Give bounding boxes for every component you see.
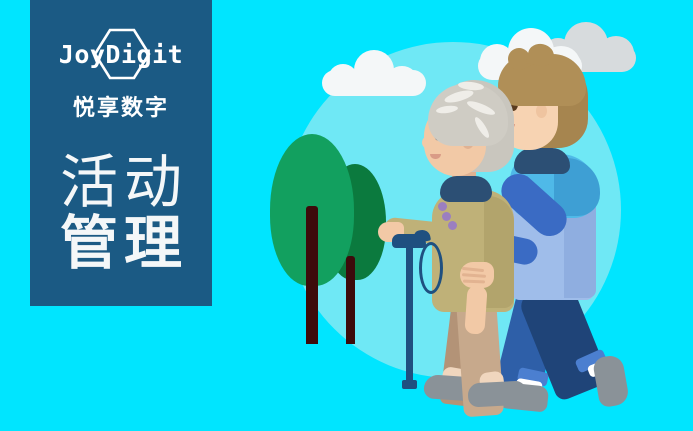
brand-subtitle: 悦享数字	[73, 90, 169, 122]
title-panel: JoyDigit 悦享数字 活动 管理	[30, 0, 212, 306]
woman-button	[448, 221, 457, 230]
page-title-line-2: 管理	[54, 213, 188, 274]
woman-button	[442, 212, 451, 221]
tree-front-trunk	[306, 206, 318, 344]
cloud-bump	[328, 64, 358, 94]
brand-logo: JoyDigit	[46, 28, 196, 80]
cane-foot	[402, 380, 417, 389]
woman-cardigan-shadow	[484, 196, 514, 308]
tree-group	[266, 128, 406, 308]
tree-back-trunk	[346, 256, 355, 344]
cane-strap-loop	[419, 242, 443, 294]
poster-canvas: JoyDigit 悦享数字 活动 管理	[0, 0, 693, 431]
walking-cane	[392, 228, 438, 394]
woman-button	[438, 202, 447, 211]
woman-collar	[440, 176, 492, 202]
woman-lower-forearm	[464, 285, 487, 334]
page-title: 活动 管理	[54, 152, 188, 275]
page-title-line-1: 活动	[54, 152, 188, 213]
woman-front-shoe	[467, 380, 526, 407]
cane-shaft	[406, 242, 413, 384]
brand-wordmark: JoyDigit	[59, 40, 183, 69]
